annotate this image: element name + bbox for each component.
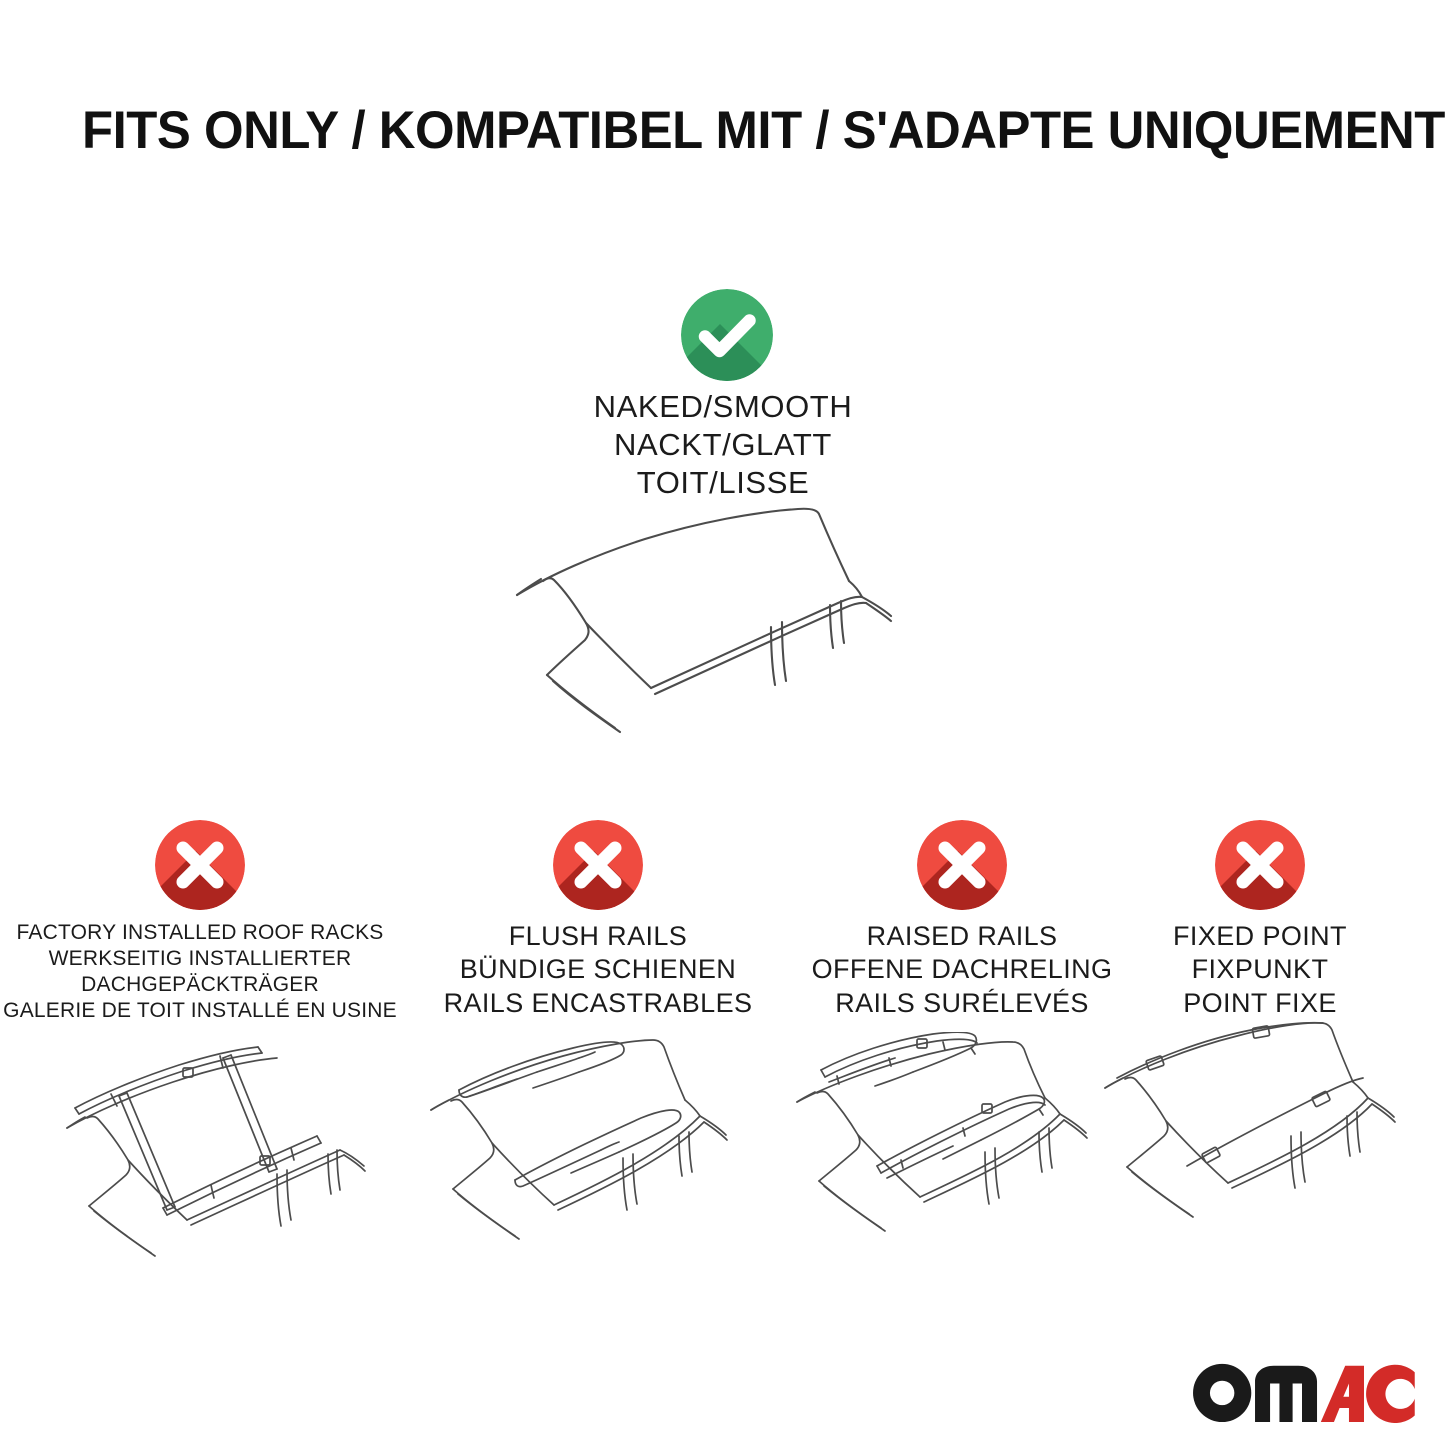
omac-logo: OMAC <box>1189 1361 1415 1423</box>
page-title: FITS ONLY / KOMPATIBEL MIT / S'ADAPTE UN… <box>82 103 1320 159</box>
green-check-circle-icon <box>681 289 773 381</box>
label-line-2: WERKSEITIG INSTALLIERTER <box>0 946 400 972</box>
label-line-3: DACHGEPÄCKTRÄGER <box>0 972 400 998</box>
label-line-4: GALERIE DE TOIT INSTALLÉ EN USINE <box>0 998 400 1024</box>
label-line-1: FLUSH RAILS <box>398 920 798 953</box>
incompatible-label: FLUSH RAILS BÜNDIGE SCHIENEN RAILS ENCAS… <box>398 920 798 1020</box>
label-line-2: BÜNDIGE SCHIENEN <box>398 953 798 986</box>
label-line-3: POINT FIXE <box>1060 987 1445 1020</box>
label-line-3: RAILS ENCASTRABLES <box>398 987 798 1020</box>
incompatible-label: FIXED POINT FIXPUNKT POINT FIXE <box>1060 920 1445 1020</box>
compatibility-infographic: FITS ONLY / KOMPATIBEL MIT / S'ADAPTE UN… <box>0 0 1445 1445</box>
label-line-2: FIXPUNKT <box>1060 953 1445 986</box>
red-x-circle-icon <box>155 820 245 910</box>
car-roof-flush-rails-illustration <box>413 1032 783 1267</box>
red-x-circle-icon <box>553 820 643 910</box>
compatible-label-line-de: NACKT/GLATT <box>523 426 923 464</box>
compatible-label-line-en: NAKED/SMOOTH <box>523 388 923 426</box>
label-line-1: FACTORY INSTALLED ROOF RACKS <box>0 920 400 946</box>
label-line-1: FIXED POINT <box>1060 920 1445 953</box>
incompatible-label: FACTORY INSTALLED ROOF RACKS WERKSEITIG … <box>0 920 400 1024</box>
car-roof-naked-smooth-illustration <box>455 485 1025 750</box>
red-x-circle-icon <box>917 820 1007 910</box>
car-roof-fixed-point-illustration <box>1075 1020 1445 1255</box>
red-x-circle-icon <box>1215 820 1305 910</box>
car-roof-factory-roof-racks-illustration <box>15 1032 385 1267</box>
